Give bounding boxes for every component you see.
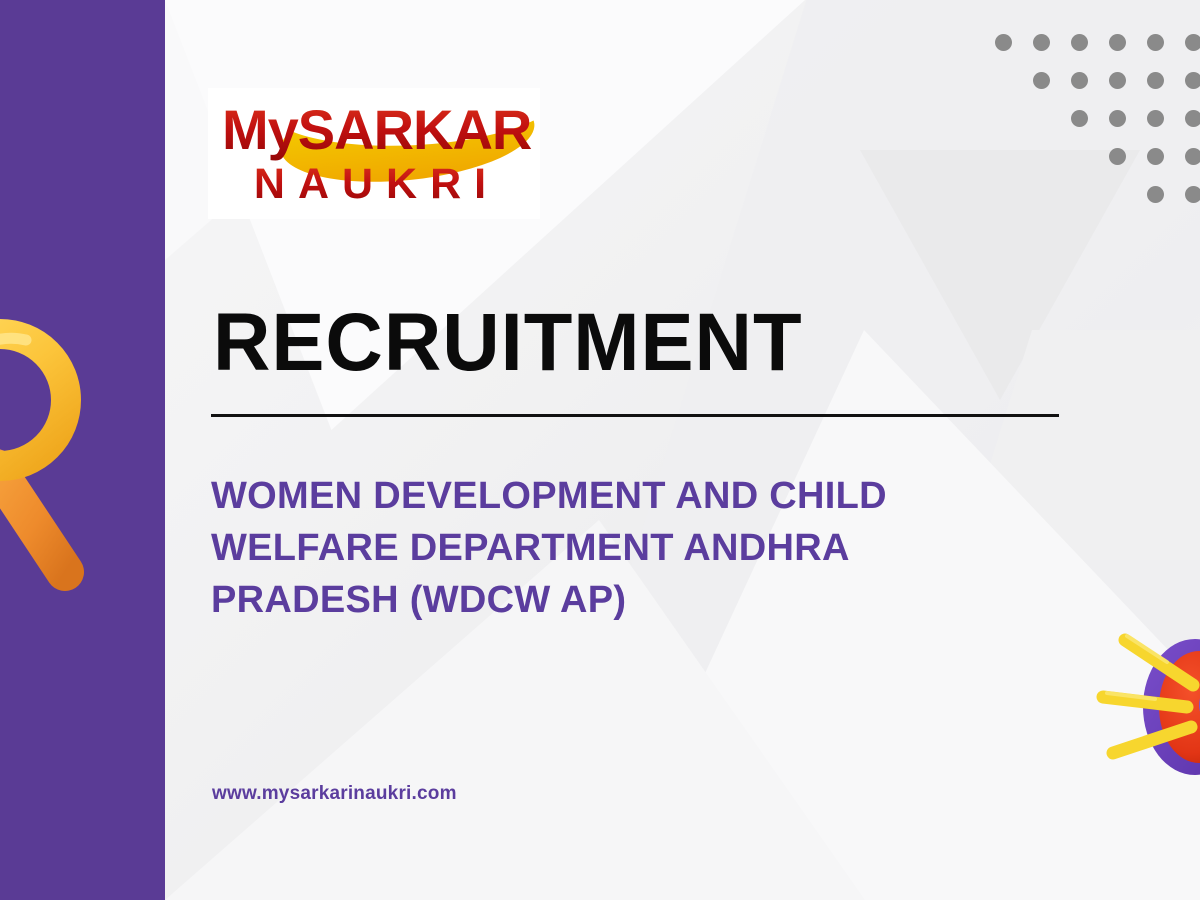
logo-wordmark-line2: NAUKRI (224, 156, 529, 212)
department-name-line-2: WELFARE DEPARTMENT ANDHRA (211, 522, 1011, 574)
recruitment-poster: MySARKARI NAUKRI RECRUITMENT WOMEN DEVEL… (0, 0, 1200, 900)
website-url[interactable]: www.mysarkarinaukri.com (212, 783, 457, 805)
triangular-dot-grid (995, 25, 1200, 225)
megaphone-icon (1095, 615, 1200, 805)
title-divider (211, 414, 1059, 417)
department-name-line-1: WOMEN DEVELOPMENT AND CHILD (211, 470, 1011, 522)
mysarkarinaukri-logo[interactable]: MySARKARI NAUKRI (208, 88, 540, 219)
department-name: WOMEN DEVELOPMENT AND CHILD WELFARE DEPA… (211, 470, 1011, 626)
page-title: RECRUITMENT (213, 300, 803, 386)
magnifying-glass-icon (0, 300, 110, 610)
department-name-line-3: PRADESH (WDCW AP) (211, 574, 1011, 626)
